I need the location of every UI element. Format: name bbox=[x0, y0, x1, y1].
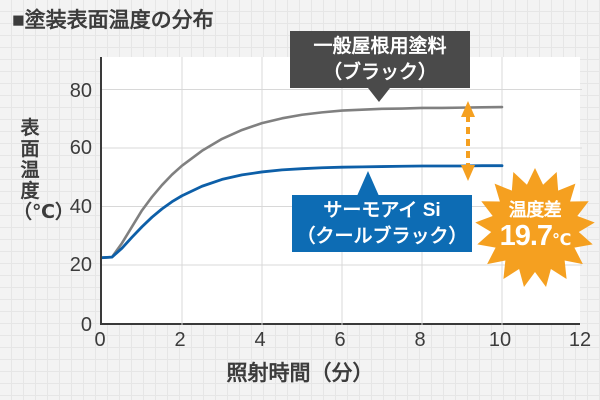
callout-blue-line2: （クールブラック） bbox=[292, 224, 472, 250]
callout-thermo-eye-si: サーモアイ Si （クールブラック） bbox=[292, 195, 472, 252]
x-tick-12: 12 bbox=[560, 330, 600, 350]
x-tick-4: 4 bbox=[240, 330, 280, 350]
callout-gray-pointer bbox=[368, 88, 390, 102]
x-tick-6: 6 bbox=[320, 330, 360, 350]
y-tick-20: 20 bbox=[50, 255, 92, 275]
x-tick-10: 10 bbox=[480, 330, 520, 350]
callout-gray-line1: 一般屋根用塗料 bbox=[290, 34, 470, 60]
chart-screenshot: ■塗装表面温度の分布 表面温度（℃） 0 20 40 60 80 0 2 4 6… bbox=[0, 0, 600, 400]
x-axis-title: 照射時間（分） bbox=[0, 357, 600, 387]
x-tick-0: 0 bbox=[80, 330, 120, 350]
starburst-badge-shape bbox=[474, 168, 596, 288]
callout-gray-line2: （ブラック） bbox=[290, 60, 470, 86]
y-tick-40: 40 bbox=[50, 197, 92, 217]
y-axis-title: 表面温度（℃） bbox=[13, 118, 47, 223]
x-tick-8: 8 bbox=[400, 330, 440, 350]
y-tick-80: 80 bbox=[50, 81, 92, 101]
page-title: ■塗装表面温度の分布 bbox=[12, 7, 214, 35]
callout-blue-pointer bbox=[357, 171, 379, 196]
x-tick-2: 2 bbox=[160, 330, 200, 350]
callout-blue-line1: サーモアイ Si bbox=[292, 198, 472, 224]
difference-arrow bbox=[461, 101, 475, 181]
y-tick-60: 60 bbox=[50, 138, 92, 158]
gridlines-vertical bbox=[182, 57, 502, 325]
callout-general-roof-paint: 一般屋根用塗料 （ブラック） bbox=[290, 31, 470, 88]
